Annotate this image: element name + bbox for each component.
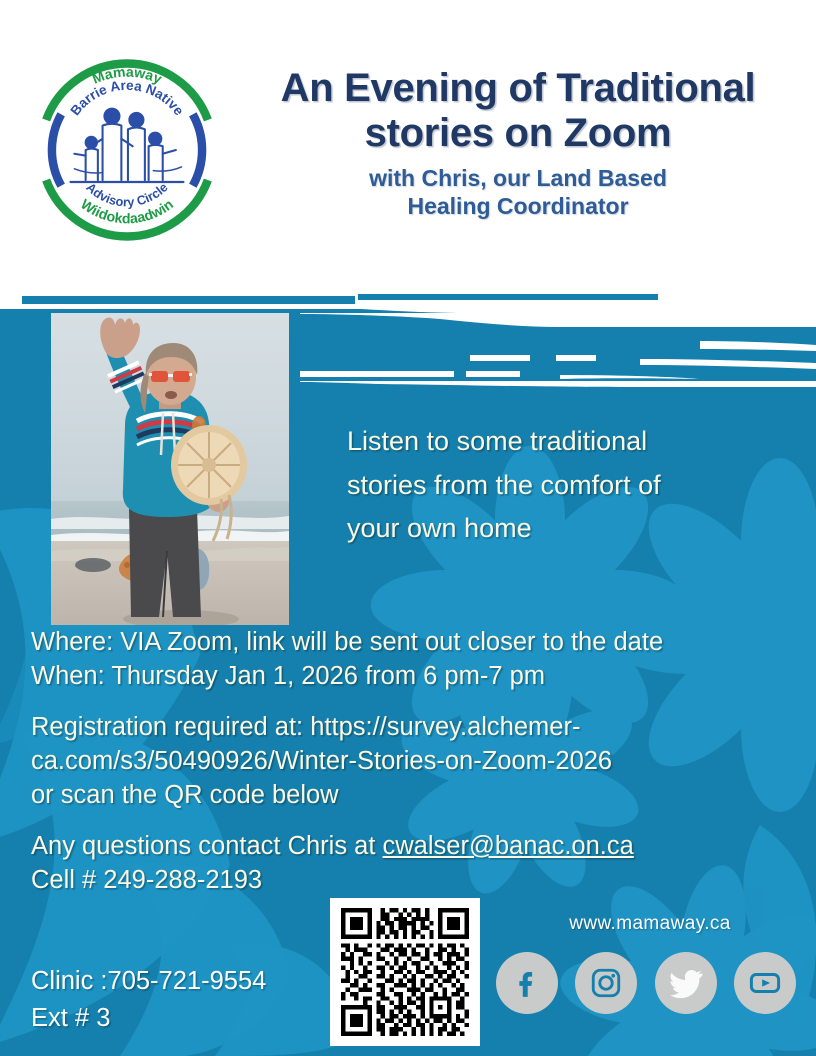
social-links xyxy=(496,952,796,1014)
cell-line: Cell # 249-288-2193 xyxy=(31,864,791,898)
title-block: An Evening of Traditional stories on Zoo… xyxy=(233,66,803,220)
poster-subtitle: with Chris, our Land Based Healing Coord… xyxy=(233,164,803,220)
contact-email-link[interactable]: cwalser@banac.on.ca xyxy=(383,832,634,860)
logo-inner-top-text: Barrie Area Native xyxy=(67,78,186,119)
where-line: Where: VIA Zoom, link will be sent out c… xyxy=(31,626,791,660)
poster-subtitle-line-2: Healing Coordinator xyxy=(233,192,803,220)
clinic-extension: Ext # 3 xyxy=(31,1000,266,1037)
qr-code[interactable] xyxy=(330,898,480,1046)
poster-title-line-1: An Evening of Traditional xyxy=(233,66,803,111)
instagram-icon[interactable] xyxy=(575,952,637,1014)
registration-line-3: or scan the QR code below xyxy=(31,779,791,813)
registration-line-2: ca.com/s3/50490926/Winter-Stories-on-Zoo… xyxy=(31,745,791,779)
brush-dash-left xyxy=(22,296,355,304)
facebook-icon[interactable] xyxy=(496,952,558,1014)
event-details: Where: VIA Zoom, link will be sent out c… xyxy=(31,626,791,898)
clinic-contact: Clinic :705-721-9554 Ext # 3 xyxy=(31,963,266,1036)
header-band: Mamaway Barrie Area Native Advisory Circ… xyxy=(0,0,816,305)
poster-title-line-2: stories on Zoom xyxy=(233,111,803,156)
twitter-icon[interactable] xyxy=(655,952,717,1014)
drummer-photo xyxy=(51,313,289,625)
contact-group: Any questions contact Chris at cwalser@b… xyxy=(31,830,791,897)
poster-root: Mamaway Barrie Area Native Advisory Circ… xyxy=(0,0,816,1056)
svg-text:Barrie Area Native: Barrie Area Native xyxy=(67,78,186,119)
poster-subtitle-line-1: with Chris, our Land Based xyxy=(233,164,803,192)
youtube-icon[interactable] xyxy=(734,952,796,1014)
contact-line: Any questions contact Chris at cwalser@b… xyxy=(31,830,791,864)
registration-line-1: Registration required at: https://survey… xyxy=(31,711,791,745)
mamaway-banac-logo: Mamaway Barrie Area Native Advisory Circ… xyxy=(33,56,221,244)
listen-line-1: Listen to some traditional xyxy=(347,420,777,464)
listen-line-3: your own home xyxy=(347,507,777,551)
website-url: www.mamaway.ca xyxy=(510,913,790,935)
where-when-group: Where: VIA Zoom, link will be sent out c… xyxy=(31,626,791,693)
when-line: When: Thursday Jan 1, 2026 from 6 pm-7 p… xyxy=(31,660,791,694)
poster-title: An Evening of Traditional stories on Zoo… xyxy=(233,66,803,156)
registration-group: Registration required at: https://survey… xyxy=(31,711,791,812)
clinic-phone: Clinic :705-721-9554 xyxy=(31,963,266,1000)
brush-dash-center xyxy=(358,294,658,300)
listen-paragraph: Listen to some traditional stories from … xyxy=(347,420,777,551)
contact-prefix: Any questions contact Chris at xyxy=(31,832,383,860)
listen-line-2: stories from the comfort of xyxy=(347,464,777,508)
